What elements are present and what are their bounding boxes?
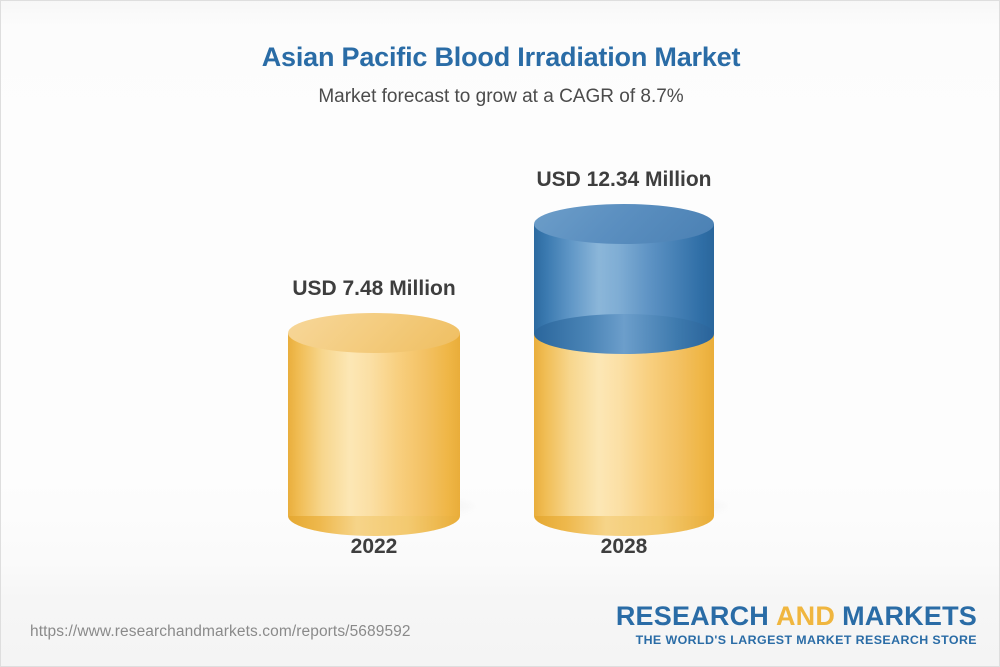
research-and-markets-logo[interactable]: RESEARCHANDMARKETS THE WORLD'S LARGEST M… [616, 601, 977, 648]
category-label-2028: 2028 [534, 534, 714, 560]
category-label-2022: 2022 [288, 534, 460, 560]
cylinder-segment-gold-2028 [534, 334, 714, 516]
bar-value-label-2022: USD 7.48 Million [288, 276, 460, 302]
cylinder-body-gold-2022 [288, 333, 460, 516]
cylinder-top-cap-2028 [534, 204, 714, 244]
logo-tagline: THE WORLD'S LARGEST MARKET RESEARCH STOR… [616, 632, 977, 648]
chart-plot-area: USD 7.48 Million 2022 USD 12.34 Million [1, 1, 1000, 667]
cylinder-top-cap-2022 [288, 313, 460, 353]
cylinder-2028[interactable] [534, 204, 714, 536]
cylinder-2022[interactable] [288, 313, 460, 536]
cylinder-segment-divider-2028 [534, 314, 714, 354]
logo-word-markets: MARKETS [842, 601, 977, 631]
chart-card: Asian Pacific Blood Irradiation Market M… [0, 0, 1000, 667]
logo-word-and: AND [769, 601, 842, 631]
logo-wordmark: RESEARCHANDMARKETS [616, 601, 977, 631]
report-url[interactable]: https://www.researchandmarkets.com/repor… [30, 623, 411, 641]
bar-value-label-2028: USD 12.34 Million [528, 167, 720, 193]
logo-word-research: RESEARCH [616, 601, 769, 631]
